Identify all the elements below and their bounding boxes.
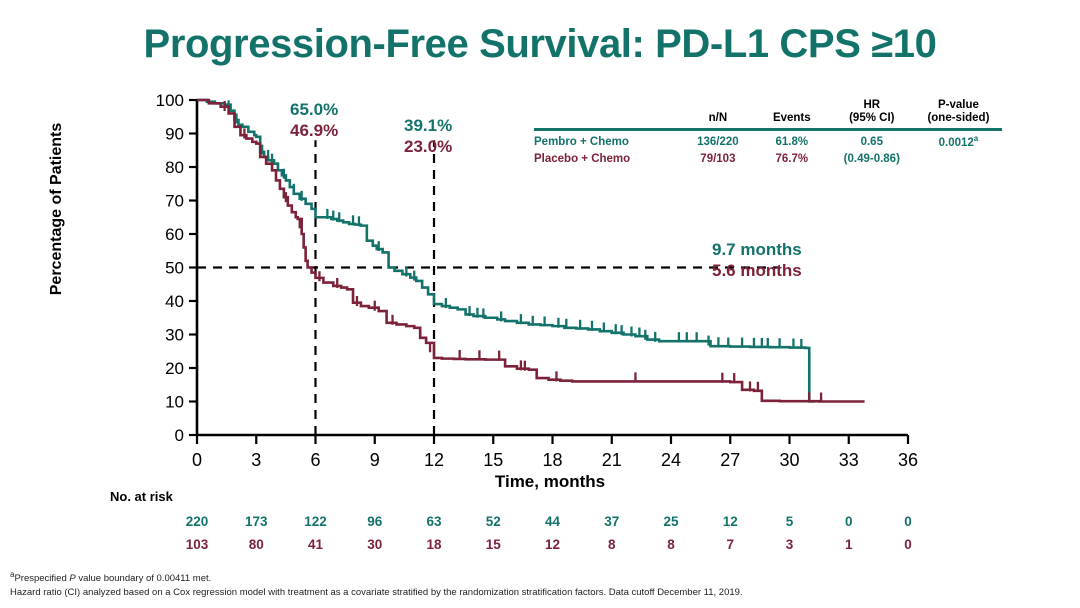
stats-header-hr-line2: (95% CI) [829,112,915,125]
y-tick-label: 80 [165,158,184,177]
median-pfs-label: 9.7 months 5.6 months [712,240,802,281]
stats-header-arm [534,99,681,128]
x-tick-label: 9 [370,450,380,470]
y-tick-label: 40 [165,292,184,311]
x-tick-label: 0 [192,450,202,470]
risk-count-placebo: 8 [667,537,675,552]
stats-row-hr-pembro: 0.65 [829,131,915,150]
stats-table-body: Pembro + Chemo 136/220 61.8% 0.65 0.0012… [534,131,1002,166]
milestone-6-placebo: 46.9% [290,121,338,142]
stats-row-events-pembro: 61.8% [755,131,829,150]
stats-row-arm-placebo: Placebo + Chemo [534,150,681,166]
risk-count-placebo: 15 [486,537,501,552]
risk-count-placebo: 18 [426,537,441,552]
x-tick-label: 18 [542,450,562,470]
stats-row-arm-pembro: Pembro + Chemo [534,131,681,150]
stats-row-pvalue-pembro: 0.0012a [915,131,1002,150]
x-tick-label: 30 [779,450,799,470]
stats-row-hr-ci: (0.49-0.86) [829,150,915,166]
milestone-6-pembro: 65.0% [290,100,338,121]
y-tick-label: 10 [165,393,184,412]
no-at-risk-label: No. at risk [110,489,173,504]
y-tick-label: 50 [165,259,184,278]
risk-count-pembro: 0 [845,514,853,529]
risk-count-pembro: 44 [545,514,560,529]
risk-count-placebo: 12 [545,537,560,552]
risk-count-pembro: 0 [904,514,912,529]
x-tick-label: 21 [602,450,622,470]
risk-count-placebo: 0 [904,537,912,552]
risk-count-placebo: 3 [786,537,794,552]
stats-row-pvalue-placebo [915,150,1002,166]
x-tick-label: 24 [661,450,681,470]
x-axis-title: Time, months [400,472,700,492]
risk-count-pembro: 173 [245,514,268,529]
stats-header-hr-line1: HR [829,99,915,112]
footnote-1-post: value boundary of 0.00411 met. [76,573,212,584]
table-row: Placebo + Chemo 79/103 76.7% (0.49-0.86) [534,150,1002,166]
stats-row-events-placebo: 76.7% [755,150,829,166]
milestone-label-12-months: 39.1% 23.0% [404,116,452,157]
stats-table-element: n/N Events HR (95% CI) P-value (one-side… [534,99,1002,167]
risk-count-placebo: 41 [308,537,323,552]
no-at-risk-table: 2201731229663524437251250010380413018151… [0,514,1080,574]
footnote-line-1: aPrespecified P value boundary of 0.0041… [10,569,1070,586]
footnote-1-pre: Prespecified [14,573,69,584]
y-tick-label: 0 [175,426,184,445]
table-row: Pembro + Chemo 136/220 61.8% 0.65 0.0012… [534,131,1002,150]
slide-root: Progression-Free Survival: PD-L1 CPS ≥10… [0,0,1080,608]
risk-count-pembro: 63 [426,514,441,529]
median-placebo: 5.6 months [712,261,802,282]
y-tick-label: 30 [165,326,184,345]
footnotes: aPrespecified P value boundary of 0.0041… [10,569,1070,600]
risk-count-pembro: 25 [663,514,678,529]
x-tick-label: 15 [483,450,503,470]
risk-count-pembro: 122 [304,514,327,529]
x-tick-label: 12 [424,450,444,470]
risk-count-pembro: 12 [723,514,738,529]
x-tick-label: 33 [839,450,859,470]
risk-count-placebo: 80 [249,537,264,552]
stats-row-nn-placebo: 79/103 [681,150,755,166]
risk-count-pembro: 5 [786,514,794,529]
milestone-12-pembro: 39.1% [404,116,452,137]
stats-row-nn-pembro: 136/220 [681,131,755,150]
stats-header-events: Events [755,99,829,128]
stats-header-pvalue: P-value (one-sided) [915,99,1002,128]
pvalue-text: 0.0012 [939,137,974,149]
y-tick-label: 60 [165,225,184,244]
risk-count-placebo: 1 [845,537,853,552]
milestone-label-6-months: 65.0% 46.9% [290,100,338,141]
x-tick-label: 36 [898,450,918,470]
stats-header-p-line1: P-value [915,99,1002,112]
x-tick-label: 3 [251,450,261,470]
risk-count-placebo: 30 [367,537,382,552]
footnote-line-2: Hazard ratio (CI) analyzed based on a Co… [10,586,1070,600]
stats-header-nn: n/N [681,99,755,128]
stats-header-hr: HR (95% CI) [829,99,915,128]
stats-header-row: n/N Events HR (95% CI) P-value (one-side… [534,99,1002,128]
pvalue-superscript: a [974,134,978,143]
median-pembro: 9.7 months [712,240,802,261]
y-axis-title: Percentage of Patients [48,89,66,329]
y-tick-label: 70 [165,192,184,211]
stats-header-p-line2: (one-sided) [915,112,1002,125]
y-tick-label: 20 [165,359,184,378]
y-tick-label: 90 [165,125,184,144]
x-tick-label: 6 [310,450,320,470]
risk-count-pembro: 96 [367,514,382,529]
statistics-table: n/N Events HR (95% CI) P-value (one-side… [534,99,1002,167]
risk-count-pembro: 52 [486,514,501,529]
x-tick-label: 27 [720,450,740,470]
risk-count-pembro: 37 [604,514,619,529]
risk-count-pembro: 220 [186,514,209,529]
risk-count-placebo: 7 [726,537,734,552]
milestone-12-placebo: 23.0% [404,137,452,158]
y-tick-label: 100 [156,91,184,110]
risk-count-placebo: 8 [608,537,616,552]
risk-count-placebo: 103 [186,537,209,552]
